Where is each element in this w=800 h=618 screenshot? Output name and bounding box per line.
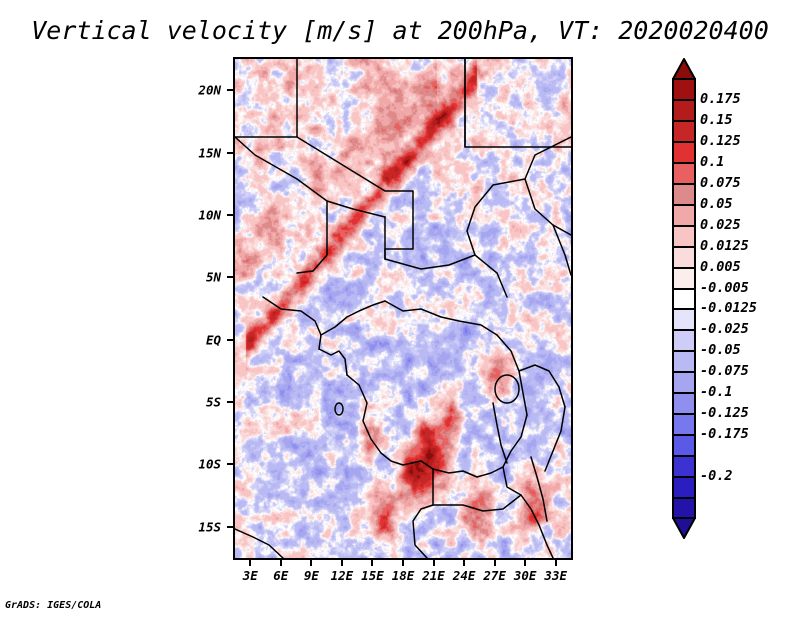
plot-frame [233,57,573,560]
y-axis-tick-label: 10S [0,457,221,472]
colorbar-segment [672,308,696,330]
x-axis-tick-mark [249,560,251,566]
y-axis-tick-label: 15N [0,145,221,160]
y-axis-tick-mark [227,276,233,278]
x-axis-tick-mark [402,560,404,566]
colorbar-segment [672,183,696,205]
y-axis-tick-mark [227,214,233,216]
x-axis-tick-label: 9E [304,568,319,583]
colorbar-segment [672,371,696,393]
colorbar-segment [672,246,696,268]
colorbar-segment [672,350,696,372]
map-plot-area [233,57,573,560]
y-axis-tick-mark [227,339,233,341]
x-axis-tick-mark [280,560,282,566]
colorbar-segment [672,204,696,226]
colorbar-segment [672,476,696,498]
colorbar-under-arrow [672,517,696,539]
colorbar-segment [672,413,696,435]
colorbar-tick-label: -0.2 [700,468,733,484]
y-axis-tick-mark [227,152,233,154]
colorbar-over-arrow [672,58,696,80]
x-axis-tick-mark [494,560,496,566]
colorbar-tick-label: -0.1 [700,384,733,400]
y-axis-tick-mark [227,89,233,91]
y-axis-tick-mark [227,526,233,528]
colorbar-segment [672,497,696,519]
colorbar-tick-label: -0.125 [700,405,749,421]
colorbar [672,78,696,518]
colorbar-segment [672,99,696,121]
colorbar-tick-label: -0.05 [700,342,741,358]
x-axis-tick-label: 21E [422,568,445,583]
y-axis-tick-label: 20N [0,83,221,98]
x-axis-tick-label: 27E [483,568,506,583]
colorbar-segment [672,162,696,184]
y-axis-tick-label: 15S [0,519,221,534]
colorbar-segment [672,329,696,351]
x-axis-tick-mark [371,560,373,566]
colorbar-tick-label: -0.005 [700,280,749,296]
x-axis-tick-mark [463,560,465,566]
y-axis-tick-label: 10N [0,207,221,222]
x-axis-tick-label: 18E [392,568,415,583]
x-axis-tick-label: 24E [453,568,476,583]
x-axis-tick-mark [433,560,435,566]
x-axis-tick-mark [555,560,557,566]
colorbar-tick-label: -0.025 [700,321,749,337]
colorbar-tick-label: 0.175 [700,91,741,107]
y-axis-tick-label: 5N [0,270,221,285]
x-axis-tick-label: 15E [361,568,384,583]
colorbar-tick-label: 0.075 [700,175,741,191]
colorbar-tick-label: 0.05 [700,196,733,212]
colorbar-tick-label: -0.0125 [700,300,757,316]
colorbar-tick-label: 0.0125 [700,238,749,254]
colorbar-segment [672,288,696,310]
colorbar-segment [672,120,696,142]
colorbar-tick-label: -0.175 [700,426,749,442]
x-axis-tick-mark [524,560,526,566]
colorbar-tick-label: 0.15 [700,112,733,128]
chart-title: Vertical velocity [m/s] at 200hPa, VT: 2… [0,16,800,45]
x-axis-tick-label: 6E [273,568,288,583]
y-axis-tick-label: 5S [0,395,221,410]
colorbar-segment [672,455,696,477]
colorbar-segment [672,392,696,414]
colorbar-segment [672,225,696,247]
x-axis-tick-label: 3E [243,568,258,583]
x-axis-tick-label: 30E [514,568,537,583]
x-axis-tick-mark [310,560,312,566]
x-axis-tick-mark [341,560,343,566]
colorbar-tick-label: -0.075 [700,363,749,379]
y-axis-tick-mark [227,401,233,403]
colorbar-segment [672,267,696,289]
colorbar-segment [672,141,696,163]
colorbar-tick-label: 0.005 [700,259,741,275]
colorbar-tick-label: 0.025 [700,217,741,233]
x-axis-tick-label: 12E [331,568,354,583]
grads-credit: GrADS: IGES/COLA [5,600,101,611]
y-axis-tick-label: EQ [0,332,221,347]
x-axis-tick-label: 33E [544,568,567,583]
colorbar-segment [672,434,696,456]
y-axis-tick-mark [227,463,233,465]
colorbar-tick-label: 0.1 [700,154,724,170]
colorbar-segment [672,78,696,100]
colorbar-tick-label: 0.125 [700,133,741,149]
